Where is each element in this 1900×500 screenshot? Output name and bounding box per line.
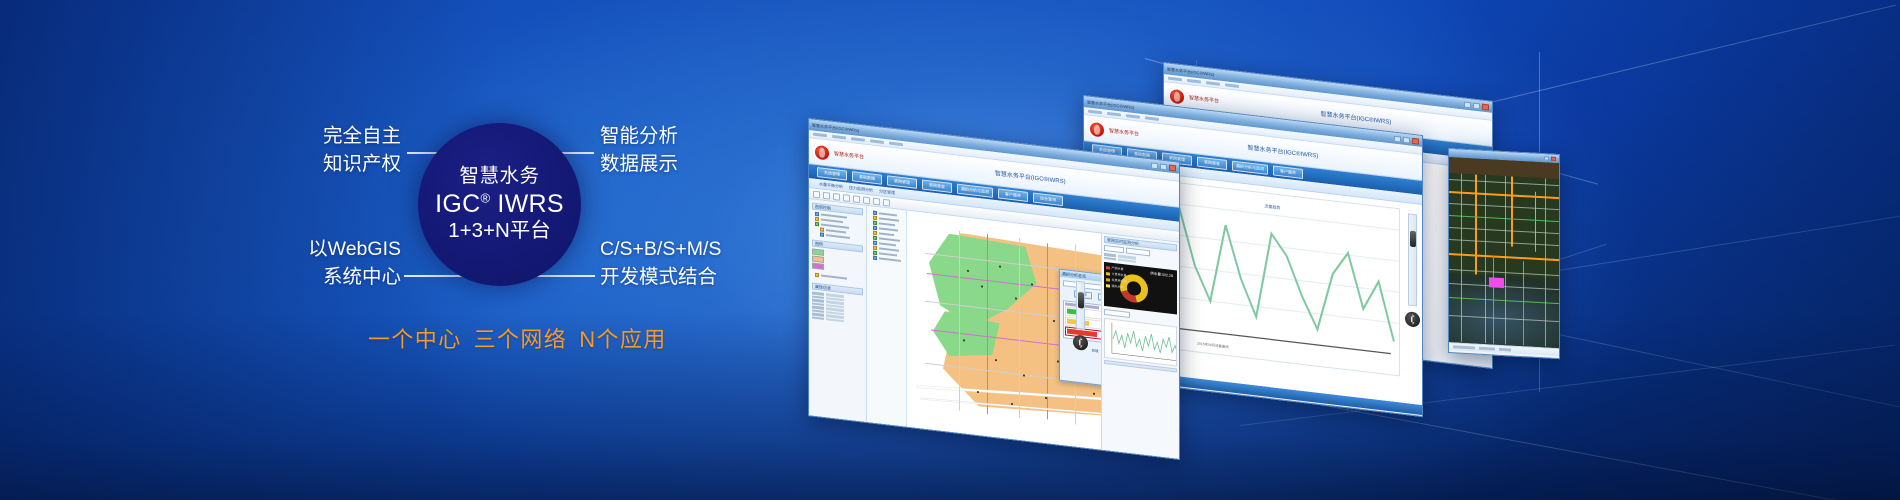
minimize-icon[interactable] [1544, 156, 1549, 160]
map-navigation-pad[interactable] [1405, 311, 1420, 328]
gis-map-canvas[interactable]: 漏损分析总览 查询 重置 [907, 211, 1101, 451]
software-screenshots: 智慧水务平台(IGC®IWRS) 智慧水务平台 智慧水务平台(IGC®IWRS)… [0, 0, 1900, 500]
feature-bottom-left-line2: 系统中心 [295, 264, 401, 292]
minimize-icon[interactable] [1464, 101, 1471, 108]
donut-legend-label: 免费用水量 [1112, 278, 1127, 284]
maximize-icon[interactable] [1160, 163, 1167, 170]
tool-panel[interactable] [867, 206, 907, 428]
subnav-item-2[interactable]: 分区管理 [879, 188, 895, 196]
water-drop-logo-icon [815, 144, 829, 160]
maximize-icon[interactable] [1403, 136, 1410, 143]
taskbar-item-1[interactable]: 管网监测 [851, 432, 885, 443]
identify-tool-icon[interactable] [863, 196, 870, 204]
nav-item-3[interactable]: 管网普查 [922, 179, 952, 193]
vertical-scrollbar[interactable] [1408, 213, 1417, 306]
connector-bottom-left [404, 275, 464, 277]
hub-title: 智慧水务 [459, 166, 539, 186]
tagline-part3: N个应用 [579, 327, 667, 352]
close-icon[interactable] [1551, 157, 1556, 161]
refresh-icon[interactable] [883, 198, 890, 206]
feature-bottom-right: C/S+B/S+M/S 开发模式结合 [600, 236, 721, 291]
window-back-controls[interactable] [1464, 101, 1489, 110]
nav-item-1[interactable]: 基础数据 [852, 171, 882, 185]
taskbar-item-2[interactable]: GIS地图 [889, 436, 923, 447]
donut-legend-3: 漏失水量 [1106, 283, 1124, 289]
water-drop-logo-icon [1170, 88, 1184, 104]
filter-select[interactable] [1104, 245, 1124, 253]
layer-panel[interactable]: 图层控制 图例 属性信息 [809, 199, 867, 423]
close-icon[interactable] [1412, 137, 1419, 144]
subnav-item-0[interactable]: 水量平衡分析 [819, 181, 843, 190]
pan-tool-icon[interactable] [813, 190, 820, 198]
feature-bottom-right-line1: C/S+B/S+M/S [600, 236, 721, 264]
window-front-controls[interactable] [1151, 162, 1176, 171]
window-back-brand: 智慧水务平台 [1189, 94, 1219, 105]
donut-chart-title: 供水量:502.29 [1150, 271, 1173, 279]
window-middle-apptitle: 智慧水务平台(IGC®IWRS) [1247, 142, 1318, 159]
donut-chart [1120, 273, 1148, 304]
window-front-body: 图层控制 图例 属性信息 [809, 199, 1179, 460]
tagline-part2: 三个网络 [474, 327, 568, 352]
zoom-in-icon[interactable] [823, 191, 830, 199]
nav-item-6[interactable]: 综合查询 [1033, 193, 1063, 207]
minimize-icon[interactable] [1151, 162, 1158, 169]
tagline: 一个中心三个网络N个应用 [368, 322, 667, 354]
close-icon[interactable] [1169, 164, 1176, 171]
window-front-apptitle: 智慧水务平台(IGC®IWRS) [995, 168, 1066, 185]
feature-top-right-line2: 数据展示 [600, 151, 678, 179]
dialog-reset-button[interactable]: 重置 [1098, 293, 1101, 302]
print-icon[interactable] [873, 197, 880, 205]
legend-swatch-purple [812, 262, 824, 269]
map-vertical-scrollbar[interactable] [1076, 281, 1085, 330]
zoom-out-icon[interactable] [833, 192, 840, 200]
feature-bottom-left-line1: 以WebGIS [308, 238, 401, 260]
window-satellite-map[interactable] [1448, 148, 1560, 359]
feature-bottom-right-line2: 开发模式结合 [600, 264, 721, 292]
water-drop-logo-icon [1090, 121, 1104, 137]
feature-top-left-line1: 完全自主 [323, 125, 401, 147]
measure-tool-icon[interactable] [853, 195, 860, 203]
feature-bottom-left: 以WebGIS 系统中心 [295, 236, 401, 291]
donut-legend-label: 漏失水量 [1112, 284, 1124, 289]
maximize-icon[interactable] [1473, 102, 1480, 109]
select-tool-icon[interactable] [843, 194, 850, 202]
tagline-part1: 一个中心 [368, 327, 462, 352]
nav-item-2[interactable]: 管网管理 [887, 175, 917, 189]
banner-root: 完全自主 知识产权 以WebGIS 系统中心 智能分析 数据展示 C/S+B/S… [0, 0, 1900, 500]
feature-top-right: 智能分析 数据展示 [600, 123, 678, 178]
donut-legend-label: 计费用水量 [1112, 272, 1127, 278]
connector-bottom-right [537, 275, 595, 277]
feature-top-left: 完全自主 知识产权 [305, 123, 401, 178]
sparkline-panel [1104, 318, 1177, 367]
hub-product2: IWRS [497, 190, 563, 218]
subnav-item-1[interactable]: 压力监测分析 [849, 184, 873, 193]
satmap-controls[interactable] [1544, 156, 1556, 161]
feature-top-left-line2: 知识产权 [305, 151, 401, 179]
window-middle-brand: 智慧水务平台 [1109, 127, 1139, 138]
window-front-brand: 智慧水务平台 [834, 150, 864, 161]
period-select[interactable] [1104, 309, 1130, 318]
close-icon[interactable] [1482, 103, 1489, 110]
window-front[interactable]: 智慧水务平台(IGC®IWRS) 智慧水务平台 智慧水务平台(IGC®IWRS)… [808, 118, 1180, 460]
nav-item-0[interactable]: 系统管理 [817, 167, 847, 181]
minimize-icon[interactable] [1394, 135, 1401, 142]
sparkline-svg [1105, 319, 1177, 366]
taskbar-item-0[interactable]: 智慧水务平台 [813, 427, 847, 438]
donut-chart-panel: 供水量:502.29 产销水量 计费用水量 免费用水量 漏失水量 [1104, 262, 1177, 315]
hub-product: IGC [435, 190, 480, 218]
nav-item-5[interactable]: 客户服务 [1273, 165, 1303, 179]
satellite-map-canvas[interactable] [1449, 157, 1559, 348]
feature-top-right-line1: 智能分析 [600, 123, 678, 151]
monitoring-panel[interactable]: 管网实时监测分析 供水量:502.29 产销水量 计费用水量 [1101, 234, 1179, 460]
registered-mark-icon: ® [480, 191, 490, 206]
donut-legend-label: 产销水量 [1112, 266, 1124, 271]
hub-platform: 1+3+N平台 [448, 219, 551, 243]
nav-item-3[interactable]: 管网普查 [1197, 156, 1227, 170]
layer-item[interactable] [815, 273, 863, 283]
highlighted-parcel[interactable] [1489, 277, 1504, 288]
center-hub: 智慧水务 IGC®IWRS 1+3+N平台 [418, 123, 581, 286]
nav-item-5[interactable]: 客户服务 [998, 188, 1028, 202]
hub-product-line: IGC®IWRS [435, 191, 564, 218]
window-middle-controls[interactable] [1394, 135, 1419, 144]
donut-legend-0: 产销水量 [1106, 265, 1124, 271]
